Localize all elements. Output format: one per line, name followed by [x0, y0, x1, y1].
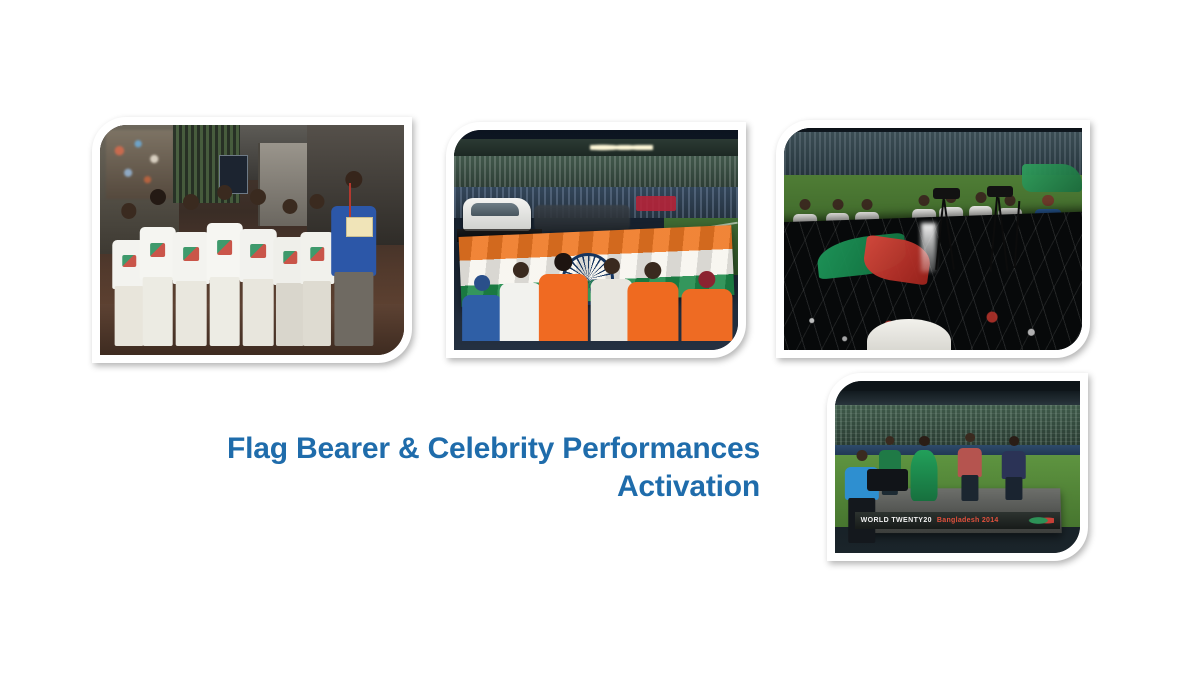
stage-banner-primary: WORLD TWENTY20	[861, 517, 932, 524]
photo-giant-india-flag[interactable]	[446, 122, 746, 358]
stage-banner: WORLD TWENTY20 Bangladesh 2014	[855, 512, 1061, 529]
page-title: Flag Bearer & Celebrity Performances Act…	[150, 430, 760, 507]
photo-celebrity-performance-image: WORLD TWENTY20 Bangladesh 2014	[835, 381, 1080, 553]
photo-giant-india-flag-image	[454, 130, 738, 350]
photo-flag-bearers-lineup-image	[100, 125, 404, 355]
photo-decorated-stage-logo[interactable]	[776, 120, 1090, 358]
world-t20-logo-icon	[1028, 515, 1054, 526]
slide-canvas: WORLD TWENTY20 Bangladesh 2014 Flag Bear…	[0, 0, 1200, 675]
stage-banner-secondary: Bangladesh 2014	[937, 517, 999, 524]
page-title-line-2: Activation	[150, 468, 760, 506]
page-title-line-1: Flag Bearer & Celebrity Performances	[150, 430, 760, 468]
photo-decorated-stage-logo-image	[784, 128, 1082, 350]
photo-flag-bearers-lineup[interactable]	[92, 117, 412, 363]
photo-celebrity-performance[interactable]: WORLD TWENTY20 Bangladesh 2014	[827, 373, 1088, 561]
